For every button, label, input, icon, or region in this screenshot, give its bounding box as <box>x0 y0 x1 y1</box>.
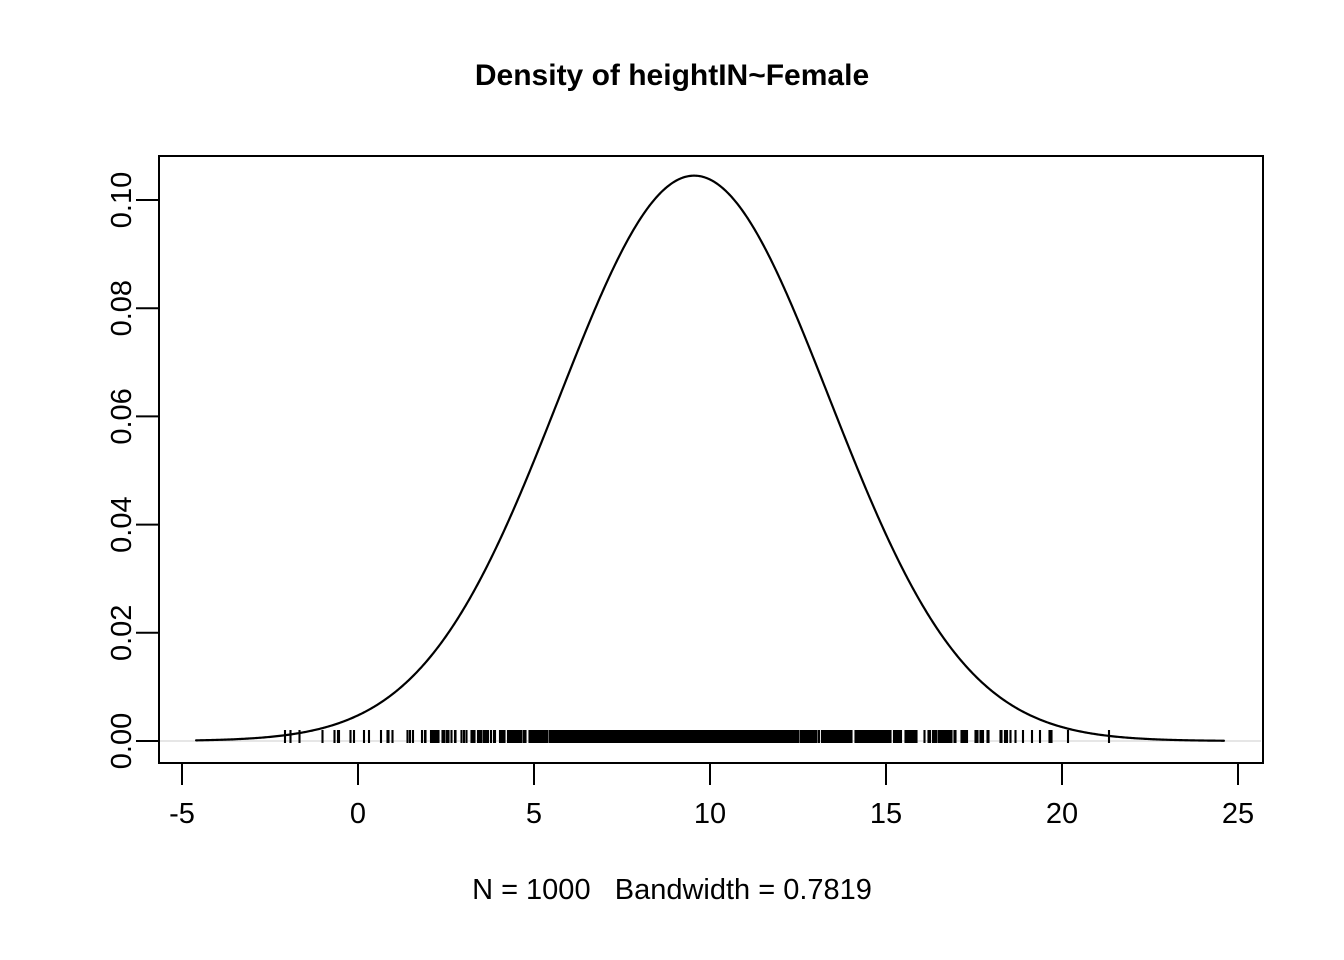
x-tick-label: 15 <box>870 798 902 830</box>
x-axis-tick-labels: -50510152025 <box>169 798 1254 830</box>
plot-frame <box>159 156 1263 763</box>
x-tick-label: 20 <box>1046 798 1078 830</box>
x-axis-label: N = 1000 Bandwidth = 0.7819 <box>0 873 1344 907</box>
y-axis-ticks <box>136 200 158 741</box>
x-tick-label: 5 <box>526 798 542 830</box>
density-plot-figure: Density of heightIN~Female -50510152025 … <box>0 0 1344 960</box>
y-tick-label: 0.04 <box>106 496 138 552</box>
chart-canvas: -50510152025 0.000.020.040.060.080.10 <box>0 0 1344 960</box>
y-axis-tick-labels: 0.000.020.040.060.080.10 <box>106 172 138 769</box>
x-tick-label: 0 <box>350 798 366 830</box>
y-tick-label: 0.02 <box>106 605 138 661</box>
density-curve <box>196 176 1224 741</box>
y-tick-label: 0.00 <box>106 713 138 769</box>
x-tick-label: 25 <box>1222 798 1254 830</box>
x-tick-label: 10 <box>694 798 726 830</box>
x-axis-ticks <box>182 763 1238 785</box>
y-tick-label: 0.08 <box>106 280 138 336</box>
y-tick-label: 0.10 <box>106 172 138 228</box>
y-tick-label: 0.06 <box>106 388 138 444</box>
x-tick-label: -5 <box>169 798 195 830</box>
